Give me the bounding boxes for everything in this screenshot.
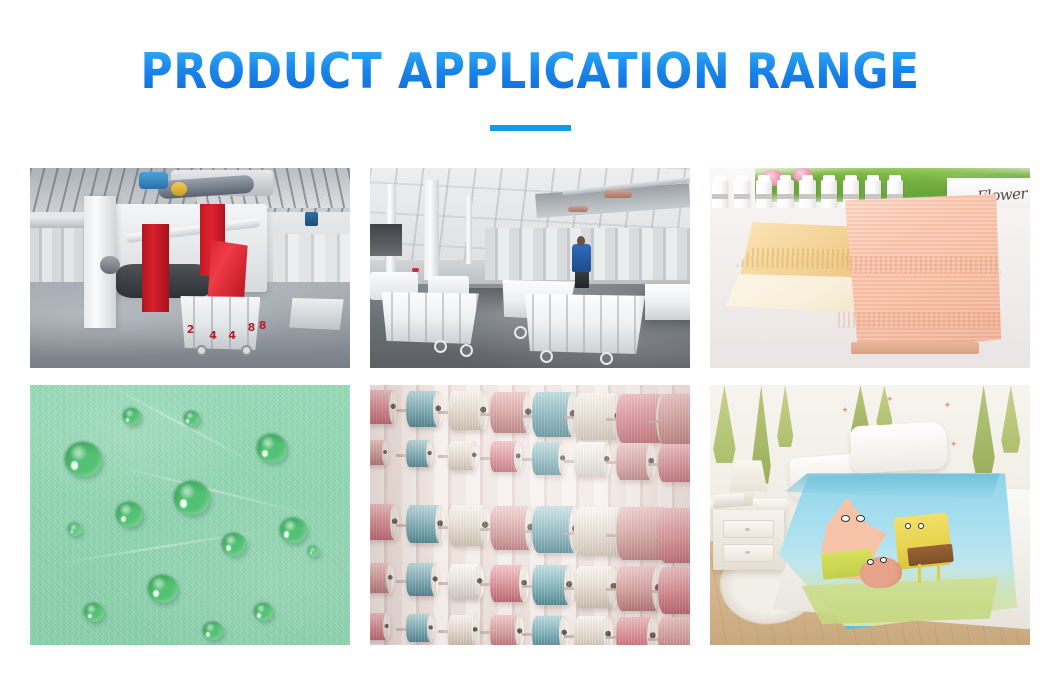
worker-jacket bbox=[572, 244, 591, 272]
control-box bbox=[305, 212, 318, 226]
worker-legs bbox=[575, 270, 589, 288]
wall-star-decal: ✦ bbox=[944, 401, 952, 410]
peach-towel-dobby-band bbox=[838, 312, 1001, 328]
pillow bbox=[850, 422, 948, 474]
copper-fitting bbox=[604, 190, 633, 198]
water-droplet bbox=[203, 622, 223, 641]
red-fabric-left bbox=[142, 224, 169, 312]
bin-number: 4 bbox=[209, 329, 217, 342]
title-underline bbox=[490, 125, 571, 131]
application-photo-dyeing-hall[interactable] bbox=[370, 168, 690, 368]
water-droplet bbox=[308, 546, 319, 556]
bin-number: 4 bbox=[228, 329, 236, 342]
roller-blue-guard bbox=[139, 172, 168, 189]
water-droplet bbox=[222, 533, 246, 556]
wall-star-decal: ✦ bbox=[841, 406, 849, 415]
cart-wheel bbox=[434, 340, 447, 353]
water-droplet bbox=[123, 408, 141, 425]
application-photo-blanket-bedroom[interactable]: ✦ ✦ ✦ ✦ ✦ bbox=[710, 385, 1030, 645]
cart-wheel bbox=[514, 326, 527, 339]
application-photo-towels[interactable]: Flower bbox=[710, 168, 1030, 368]
application-image-grid: 2 4 4 8 8 bbox=[30, 168, 1030, 645]
hall-pillar bbox=[424, 180, 439, 280]
wall-star-decal: ✦ bbox=[886, 395, 894, 404]
bin-number: 8 bbox=[259, 319, 267, 332]
worker-head bbox=[577, 236, 585, 246]
machine-cylinder bbox=[100, 256, 119, 274]
roller-yellow-hub bbox=[171, 182, 187, 196]
trolley-cart-ribs bbox=[517, 294, 645, 354]
overhead-tube bbox=[30, 218, 84, 228]
copper-fitting bbox=[568, 206, 587, 212]
application-photo-yarn-cones[interactable] bbox=[370, 385, 690, 645]
hall-dark-doorway bbox=[370, 224, 402, 256]
trolley-cart bbox=[645, 284, 690, 320]
water-droplet bbox=[280, 518, 307, 543]
product-application-banner: PRODUCT APPLICATION RANGE bbox=[0, 0, 1060, 680]
water-droplet bbox=[65, 442, 102, 477]
application-photo-finishing-machine[interactable]: 2 4 4 8 8 bbox=[30, 168, 350, 368]
drawer-knob bbox=[745, 528, 750, 531]
banner-header: PRODUCT APPLICATION RANGE bbox=[0, 0, 1060, 168]
table-lamp-shade bbox=[729, 460, 767, 491]
page-title: PRODUCT APPLICATION RANGE bbox=[53, 45, 1007, 99]
water-droplet bbox=[184, 411, 200, 426]
bin-number: 2 bbox=[187, 323, 195, 336]
wall-star-decal: ✦ bbox=[950, 440, 958, 449]
peach-towel-fold-edge bbox=[851, 342, 979, 354]
bale-marker bbox=[412, 268, 419, 272]
water-droplet bbox=[174, 481, 210, 515]
peach-towel-dobby-band bbox=[835, 256, 1001, 274]
yarn-wall-shading bbox=[370, 385, 690, 645]
bin-number: 8 bbox=[248, 321, 256, 334]
water-droplet bbox=[257, 434, 287, 462]
cart-wheel bbox=[460, 344, 473, 357]
trolley-cart-ribs bbox=[376, 292, 478, 344]
cart-wheel bbox=[540, 350, 553, 363]
hall-pillar bbox=[466, 196, 472, 264]
application-photo-water-repellent-fabric[interactable] bbox=[30, 385, 350, 645]
trolley-bin-far bbox=[289, 298, 343, 330]
table-lamp-base bbox=[744, 492, 754, 505]
